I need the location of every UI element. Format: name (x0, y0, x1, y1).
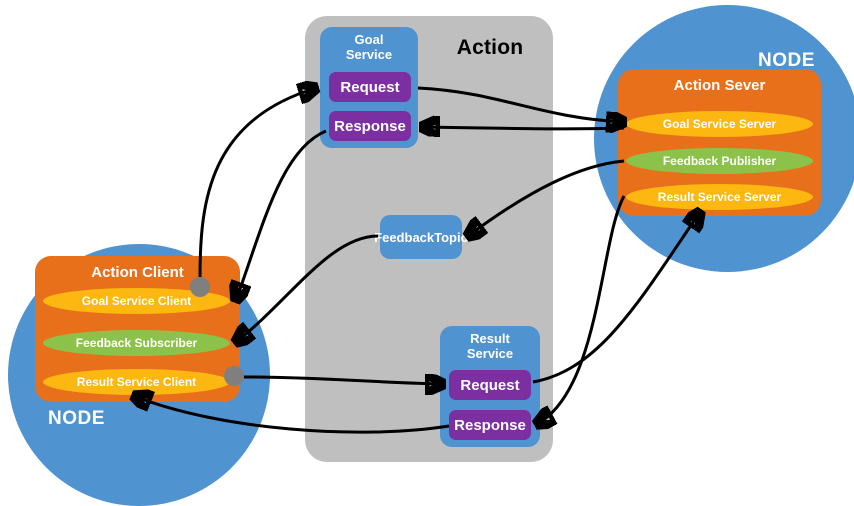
wire-goalclient-to-request (200, 88, 316, 277)
result-service-request: Request (449, 370, 531, 400)
result-service-title-line2: Service (467, 346, 513, 361)
action-client-title: Action Client (35, 264, 240, 281)
node-client-label: NODE (48, 408, 105, 430)
goal-service-title-line1: Goal (355, 32, 384, 47)
goal-service-request: Request (329, 72, 411, 102)
pill-goal-service-server: Goal Service Server (626, 111, 813, 137)
pill-result-service-server: Result Service Server (626, 184, 813, 210)
diagram-canvas: Action NODE NODE Action Sever Goal Servi… (0, 0, 854, 480)
pill-feedback-publisher: Feedback Publisher (626, 148, 813, 174)
result-client-connector-dot (224, 366, 244, 386)
pill-result-service-client: Result Service Client (43, 369, 230, 395)
goal-client-connector-dot (190, 277, 210, 297)
goal-service-response: Response (329, 111, 411, 141)
result-service-title: Result Service (440, 331, 540, 361)
result-service-response: Response (449, 410, 531, 440)
feedback-topic-box: Feedback Topic (380, 215, 462, 259)
action-panel-title: Action (430, 36, 550, 60)
pill-feedback-subscriber: Feedback Subscriber (43, 330, 230, 356)
goal-service-title: Goal Service (320, 32, 418, 62)
result-service-title-line1: Result (470, 331, 510, 346)
feedback-topic-line1: Feedback (374, 230, 434, 245)
action-server-title: Action Sever (618, 77, 821, 94)
feedback-topic-line2: Topic (434, 230, 468, 245)
goal-service-title-line2: Service (346, 47, 392, 62)
